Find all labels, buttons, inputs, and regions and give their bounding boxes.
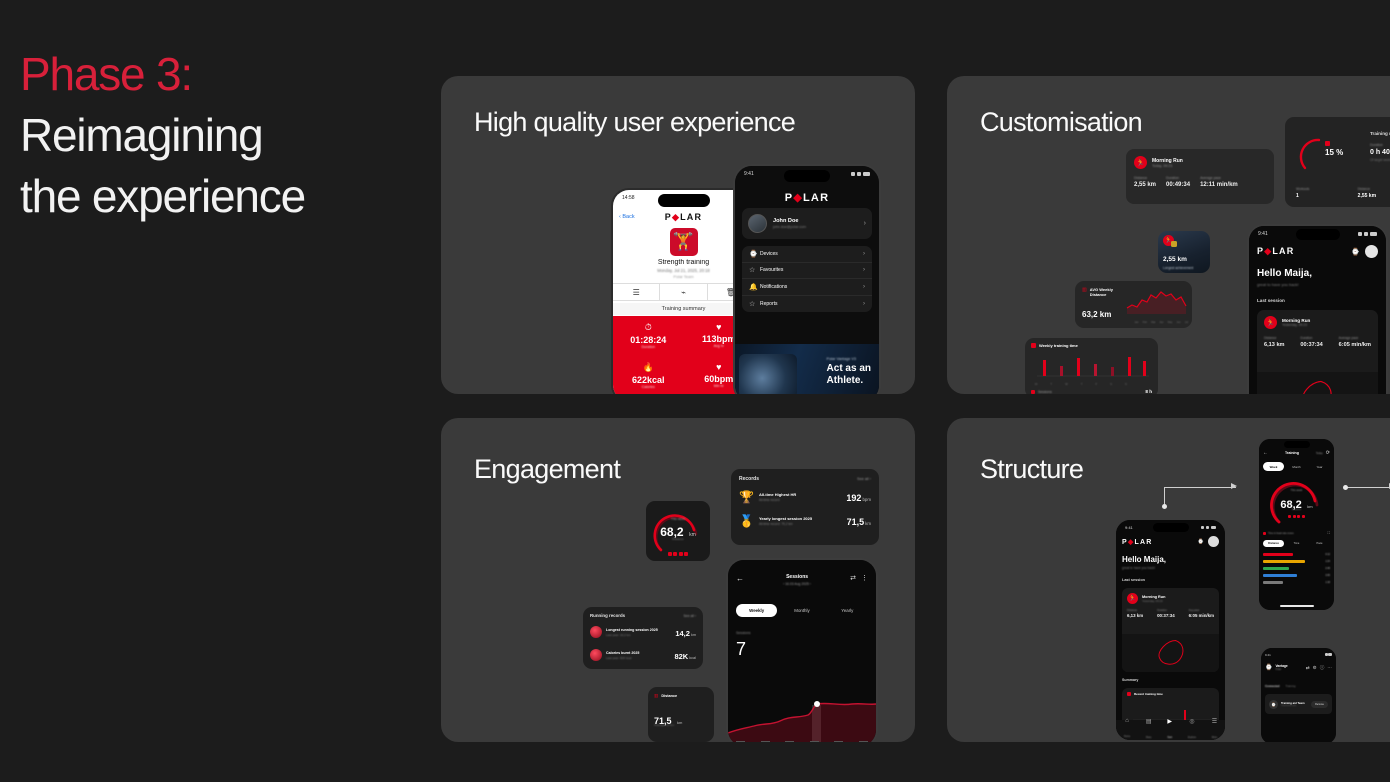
back-button[interactable]: ‹ Back: [619, 214, 635, 220]
watch-icon[interactable]: ⌚: [1351, 248, 1360, 256]
tab-diary[interactable]: ▤Diary: [1146, 718, 1152, 741]
avatar[interactable]: [1365, 245, 1378, 258]
tab-monthly[interactable]: Monthly: [781, 604, 822, 617]
report-bottom-workouts: Workouts 1: [1296, 187, 1309, 199]
chevron-right-icon: ›: [863, 267, 865, 273]
badge-icon: [590, 626, 602, 638]
run-icon: 🏃: [1127, 593, 1138, 604]
report-title: Training report: [1370, 131, 1390, 136]
widget-morning-run-session[interactable]: 🏃 Morning Run Today, 09:23 Distance 2,55…: [1126, 149, 1274, 204]
card-title-engagement: Engagement: [474, 454, 620, 485]
promo-banner[interactable]: Polar Vantage V3 Act as an Athlete.: [735, 344, 879, 394]
phone-structure-device[interactable]: 9:41 ⌚ Vantage Polar ⇄ ⚙ ⓘ ⋯ Con: [1259, 646, 1338, 742]
distance-ticks: JanFeb MarApr MayJun Jul: [1134, 321, 1188, 324]
widget-running-records[interactable]: Running records See all › Longest runnin…: [583, 607, 703, 669]
chart-x-ticks: [736, 741, 868, 742]
gauge-label: This week: [646, 517, 710, 521]
report-gauge: [1297, 134, 1325, 176]
promo-line-1: Act as an: [827, 363, 871, 375]
gauge-label: This week: [1259, 489, 1334, 492]
back-arrow-icon[interactable]: ←: [1263, 450, 1268, 456]
session-metric-pace: Avg pace 6:05 min/km: [1189, 609, 1214, 618]
home-indicator: [1280, 605, 1314, 607]
report-duration-label: Duration: [1370, 143, 1390, 147]
distance-small-title: Distance: [661, 694, 677, 698]
more-options-icon[interactable]: ⋮: [861, 574, 868, 582]
zone-metric-tabs[interactable]: Distance Time Pace: [1263, 540, 1330, 547]
sessions-title: Sessions: [744, 574, 850, 580]
session-metric-pace: Average pace 6:05 min/km: [1339, 336, 1371, 348]
remove-button[interactable]: Remove: [1311, 701, 1328, 708]
gauge-dots: [646, 552, 710, 556]
flame-icon: 🔥: [613, 362, 684, 373]
metric-duration: ⏱ 01:28:24 Duration: [613, 322, 684, 362]
chevron-right-icon: ›: [863, 251, 865, 257]
route-map[interactable]: [1122, 634, 1219, 672]
session-metric-pace: Average pace 12:11 min/km: [1200, 176, 1238, 188]
profile-name: John Doe: [773, 218, 864, 224]
gauge-dots: [1259, 515, 1334, 518]
status-icons-dark: [851, 172, 870, 176]
tab-home[interactable]: ⌂Home: [1124, 718, 1130, 740]
running-row-calories[interactable]: Calories burnt 2025 Last year: 92K kcal …: [583, 641, 703, 664]
zone-row: 3:05: [1263, 574, 1330, 577]
last-session-card[interactable]: 🏃 Morning Run Yesterday, 09:23 Distance …: [1257, 310, 1378, 394]
report-percent: 15 %: [1325, 148, 1343, 157]
widget-avg-weekly-distance[interactable]: ▥ AVG Weekly Distance 63,2 km JanFeb Mar…: [1075, 281, 1192, 328]
phone-sessions[interactable]: ← Sessions ‹ 16.03 Aug 2025 › ⇄ ⋮ Weekly…: [726, 558, 878, 742]
summary-label: Summary: [1122, 678, 1138, 682]
info-icon[interactable]: ⓘ: [1320, 665, 1325, 671]
run-icon: 🏃: [1134, 156, 1147, 169]
device-subtitle: Polar: [1275, 668, 1287, 671]
zone-row: 1:18: [1263, 581, 1330, 584]
device-tabs[interactable]: Connected Training: [1265, 684, 1295, 688]
greeting-sub: great to have you back!: [1122, 566, 1155, 570]
running-row-longest[interactable]: Longest running session 2025 Last year: …: [583, 618, 703, 641]
weekly-footer-value: 8 h: [1145, 389, 1152, 394]
records-title: Records: [739, 476, 759, 482]
polar-logo-light: P◆LAR: [665, 212, 702, 223]
widget-training-report[interactable]: 15 % Training report Duration 0 h 40 min…: [1285, 117, 1390, 207]
promo-eyebrow: Polar Vantage V3: [827, 357, 871, 361]
metric-value: 7: [736, 639, 746, 660]
session-subtitle: Today, 09:23: [1152, 164, 1183, 168]
weekly-footer-label: Sessions: [1038, 390, 1052, 394]
metric-calories: 🔥 622kcal Calories: [613, 362, 684, 395]
card-customisation[interactable]: Customisation 🏃 Morning Run Today, 09:23…: [947, 76, 1390, 394]
distance-title-2: Distance: [1090, 292, 1107, 297]
connector-dot-2: [1343, 485, 1348, 490]
status-bar: 9:41: [1265, 653, 1332, 657]
tab-pace[interactable]: Pace: [1309, 540, 1330, 547]
widget-distance-small[interactable]: ▥ Distance 71,5 km Average 13 km: [648, 687, 714, 742]
badge-icon: [1171, 241, 1177, 247]
sync-icon[interactable]: ⇄: [1306, 665, 1310, 671]
widget-photo-achievement[interactable]: 🏃 2,55 km Longest achievement: [1158, 231, 1210, 273]
status-time-dark: 9:41: [744, 171, 754, 177]
status-icons: [1358, 232, 1377, 236]
record-row-longest-session[interactable]: 🥇 Yearly longest session 2025 All-time r…: [731, 506, 879, 530]
sessions-area-chart: [728, 671, 876, 742]
widget-records[interactable]: Records See all › 🏆 All-time Highest HR …: [731, 469, 879, 545]
status-time: 9:41: [1258, 231, 1268, 237]
polar-logo-dark: P◆LAR: [785, 192, 829, 204]
chevron-right-icon: ›: [863, 284, 865, 290]
menu-item-notifications[interactable]: 🔔 Notifications ›: [742, 279, 872, 296]
connector-line-h1: [1164, 487, 1236, 488]
list-view-icon[interactable]: ☰: [613, 284, 660, 300]
photo-value: 2,55 km: [1163, 256, 1187, 263]
greeting: Hello Maija,: [1257, 268, 1312, 279]
zone-list: 0:12 1:24 2:48 3:05: [1263, 553, 1330, 584]
headline-line-1: Phase 3:: [20, 44, 420, 105]
refresh-icon[interactable]: ⟳: [1326, 450, 1330, 456]
menu-item-favourites[interactable]: ☆ Favourites ›: [742, 263, 872, 280]
running-see-all[interactable]: See all ›: [684, 614, 696, 618]
bell-icon: 🔔: [749, 283, 760, 291]
distance-small-unit: km: [677, 720, 682, 725]
photo-caption: Longest achievement: [1163, 266, 1193, 270]
watch-icon: ⌚: [749, 250, 760, 258]
session-metric-distance: Distance 6,13 km: [1127, 609, 1143, 618]
legend-dot: [1031, 390, 1035, 394]
date-label[interactable]: Today: [1316, 452, 1323, 455]
session-metric-distance: Distance 6,13 km: [1264, 336, 1285, 348]
chart-icon: ▥: [654, 693, 658, 699]
profile-email: john.doe@polar.com: [773, 225, 864, 229]
metric-label: Sessions: [736, 631, 751, 635]
running-title: Running records: [590, 613, 625, 618]
tab-month[interactable]: Month: [1286, 462, 1307, 471]
chart-icon: ▥: [1082, 287, 1087, 293]
weekly-title: Weekly training time: [1039, 343, 1078, 348]
dot-icon: [1263, 532, 1266, 535]
section-label: Last session: [1257, 298, 1285, 303]
device-row[interactable]: ⌚ Training aid Team Connected now Remove: [1265, 694, 1332, 714]
training-period-tabs[interactable]: Week Month Year: [1263, 462, 1330, 471]
zone-row: 0:12: [1263, 553, 1330, 556]
watch-icon[interactable]: ⌚: [1198, 539, 1204, 545]
strength-training-icon: 🏋: [670, 228, 698, 256]
status-time: 9:41: [1125, 525, 1133, 530]
widget-distance-gauge[interactable]: This week 68,2 km Distance: [646, 501, 710, 561]
connector-line-h2: [1345, 487, 1390, 488]
device-sub: Connected now: [1281, 705, 1311, 707]
share-icon[interactable]: ⌁: [660, 284, 707, 300]
weekly-bar-chart: [1031, 354, 1151, 382]
run-icon: 🏃: [1264, 316, 1277, 329]
tab-training[interactable]: Training: [1285, 684, 1295, 688]
polar-logo: P◆LAR: [1122, 538, 1152, 546]
distance-line-chart: [1125, 286, 1189, 316]
chevron-right-icon: ›: [863, 301, 865, 307]
more-icon[interactable]: ⋯: [1327, 665, 1332, 671]
expand-icon[interactable]: ⛶: [1328, 531, 1330, 535]
bar-icon: [1031, 343, 1036, 348]
bottom-tab-bar[interactable]: ⌂Home ▤Diary ▶Start ◎Explore ☰More: [1116, 720, 1225, 740]
status-icons: [1201, 526, 1216, 529]
back-arrow-icon[interactable]: ←: [736, 574, 744, 583]
card-high-quality[interactable]: High quality user experience 14:58 ‹ Bac…: [441, 76, 915, 394]
stopwatch-icon: ⏱: [613, 322, 684, 333]
distance-small-sub: Average 13 km: [654, 723, 674, 727]
tab-more[interactable]: ☰More: [1212, 718, 1217, 741]
distance-value: 63,2 km: [1082, 310, 1111, 319]
tab-yearly[interactable]: Yearly: [827, 604, 868, 617]
zone-row: 2:48: [1263, 567, 1330, 570]
chart-title: Recent training time: [1134, 692, 1163, 696]
settings-menu[interactable]: ⌚ Devices › ☆ Favourites › 🔔 Notificatio…: [742, 246, 872, 312]
session-metric-duration: Duration 00:37:34: [1157, 609, 1175, 618]
zone-row: 1:24: [1263, 560, 1330, 563]
greeting: Hello Maija,: [1122, 555, 1166, 564]
report-duration-value: 0 h 40 min: [1370, 149, 1390, 156]
route-map[interactable]: [1257, 372, 1378, 394]
promo-image: [739, 354, 797, 394]
phone-dark-profile-menu[interactable]: 9:41 P◆LAR John Doe john.doe@polar.com ›: [733, 164, 881, 394]
session-sub: Yesterday, 09:23: [1142, 599, 1165, 603]
records-see-all[interactable]: See all ›: [857, 477, 871, 481]
tab-explore[interactable]: ◎Explore: [1188, 718, 1196, 741]
menu-item-reports[interactable]: ☆ Reports ›: [742, 296, 872, 313]
card-title-customisation: Customisation: [980, 107, 1142, 138]
report-badge: [1325, 141, 1330, 146]
headline-line-3: the experience: [20, 166, 420, 227]
gauge-sub: Distance: [646, 537, 710, 541]
tab-distance[interactable]: Distance: [1263, 540, 1284, 547]
card-engagement[interactable]: Engagement This week 68,2 km Distance Re…: [441, 418, 915, 742]
promo-line-2: Athlete.: [827, 375, 871, 387]
polar-logo: P◆LAR: [1257, 246, 1294, 257]
medal-icon: 🥇: [739, 514, 754, 528]
tab-year[interactable]: Year: [1309, 462, 1330, 471]
headline-line-2: Reimagining: [20, 105, 420, 166]
badge-icon: [590, 649, 602, 661]
bar-icon: [1127, 692, 1131, 696]
training-title: Training: [1285, 451, 1299, 455]
period-tabs[interactable]: Weekly Monthly Yearly: [736, 604, 868, 617]
card-title-structure: Structure: [980, 454, 1083, 485]
settings-icon[interactable]: ⚙: [1313, 665, 1317, 671]
page-headline: Phase 3: Reimagining the experience: [20, 44, 420, 227]
report-bottom-distance: Distance 2,55 km: [1358, 187, 1376, 199]
connector-dot-1: [1162, 504, 1167, 509]
record-row-highest-hr[interactable]: 🏆 All-time Highest HR All-time record 19…: [731, 482, 879, 506]
widget-weekly-training-time[interactable]: Weekly training time MT WT FS S Sessions…: [1025, 338, 1158, 394]
star-outline-icon: ☆: [749, 300, 760, 308]
tab-weekly[interactable]: Weekly: [736, 604, 777, 617]
star-icon: ☆: [749, 266, 760, 274]
avatar[interactable]: [1208, 536, 1219, 547]
phone-structure-home[interactable]: 9:41 P◆LAR ⌚ Hello Maija, great to have …: [1114, 518, 1227, 742]
tab-time[interactable]: Time: [1286, 540, 1307, 547]
session-metric-duration: Duration 00:49:34: [1166, 176, 1190, 188]
phone-home-hello-maija[interactable]: 9:41 P◆LAR ⌚ Hello Maija, great to have …: [1247, 224, 1388, 394]
zones-header: Time in heart rate zones ⛶: [1263, 531, 1330, 535]
device-actions[interactable]: ⇄ ⚙ ⓘ ⋯: [1306, 665, 1332, 671]
last-session-card[interactable]: 🏃 Morning Run Yesterday, 09:23 Distance …: [1122, 588, 1219, 672]
avatar: [748, 214, 767, 233]
session-metric-distance: Distance 2,55 km: [1134, 176, 1156, 188]
trophy-icon: 🏆: [739, 490, 754, 504]
card-title-high-quality: High quality user experience: [474, 107, 795, 138]
session-metric-duration: Duration 00:37:34: [1300, 336, 1322, 348]
chevron-right-icon: ›: [864, 220, 866, 227]
connector-arrowhead-1: [1231, 483, 1237, 489]
sessions-date-range[interactable]: ‹ 16.03 Aug 2025 ›: [744, 582, 850, 586]
gauge-sub: Distance: [1259, 508, 1334, 511]
weekly-x-ticks: MT WT FS S: [1035, 382, 1127, 386]
status-time: 14:58: [622, 195, 635, 201]
device-icon: ⌚: [1269, 700, 1278, 709]
tab-week[interactable]: Week: [1263, 462, 1284, 471]
tab-start[interactable]: ▶Start: [1167, 718, 1172, 741]
watch-icon: ⌚: [1265, 664, 1272, 671]
compare-icon[interactable]: ⇄: [850, 574, 856, 582]
report-duration-sub: Of target week: [1370, 158, 1390, 162]
profile-row[interactable]: John Doe john.doe@polar.com ›: [742, 208, 872, 239]
session-sub: Yesterday, 09:23: [1282, 323, 1310, 327]
card-structure[interactable]: Structure 9:41 P◆LAR ⌚ Hello Maija, grea…: [947, 418, 1390, 742]
greeting-sub: great to have you back!: [1257, 282, 1299, 287]
menu-item-devices[interactable]: ⌚ Devices ›: [742, 246, 872, 263]
phone-structure-training[interactable]: ← Training Today ⟳ Week Month Year This …: [1257, 437, 1336, 612]
section-label: Last session: [1122, 578, 1145, 582]
tab-connected[interactable]: Connected: [1265, 684, 1279, 688]
